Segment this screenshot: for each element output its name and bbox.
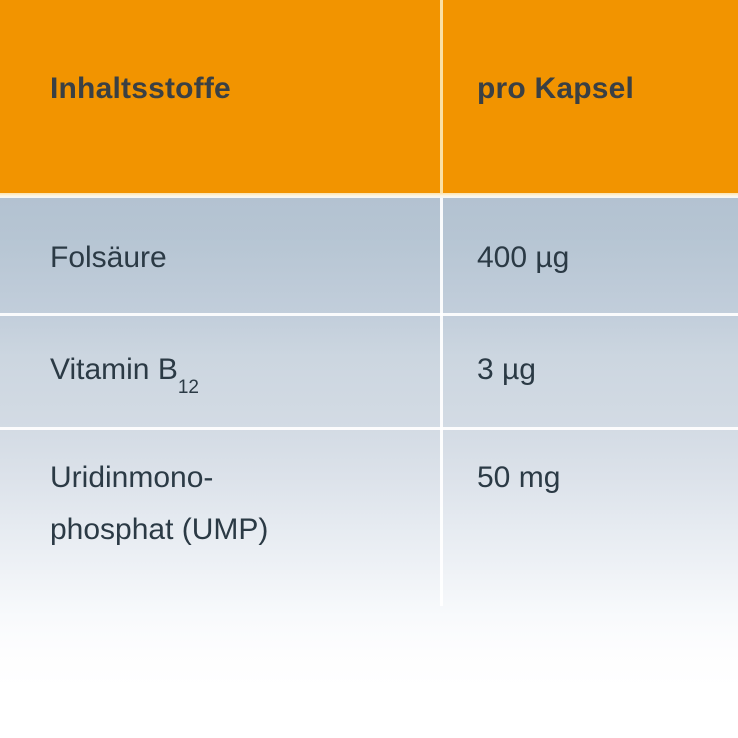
cell-ingredient-amount: 3 µg [477,344,727,396]
ingredient-name-base: Vitamin B [50,353,178,386]
column-header-per-capsule: pro Kapsel [477,72,634,106]
table-row: Folsäure 400 µg [0,200,738,313]
cell-ingredient-amount: 400 µg [477,232,727,284]
table-header-band: Inhaltsstoffe pro Kapsel [0,0,738,197]
cell-ingredient-name: Uridinmono- phosphat (UMP) [50,452,430,556]
column-header-ingredients: Inhaltsstoffe [50,72,231,106]
cell-ingredient-name: Vitamin B12 [50,344,430,396]
header-underline [0,193,738,198]
ingredient-name-subscript: 12 [178,377,199,398]
table-row: Vitamin B12 3 µg [0,316,738,427]
cell-ingredient-amount: 50 mg [477,452,727,504]
header-column-divider [440,0,443,194]
cell-ingredient-name: Folsäure [50,232,430,284]
table-row: Uridinmono- phosphat (UMP) 50 mg [0,430,738,605]
ingredients-table: Inhaltsstoffe pro Kapsel Folsäure 400 µg… [0,0,738,738]
